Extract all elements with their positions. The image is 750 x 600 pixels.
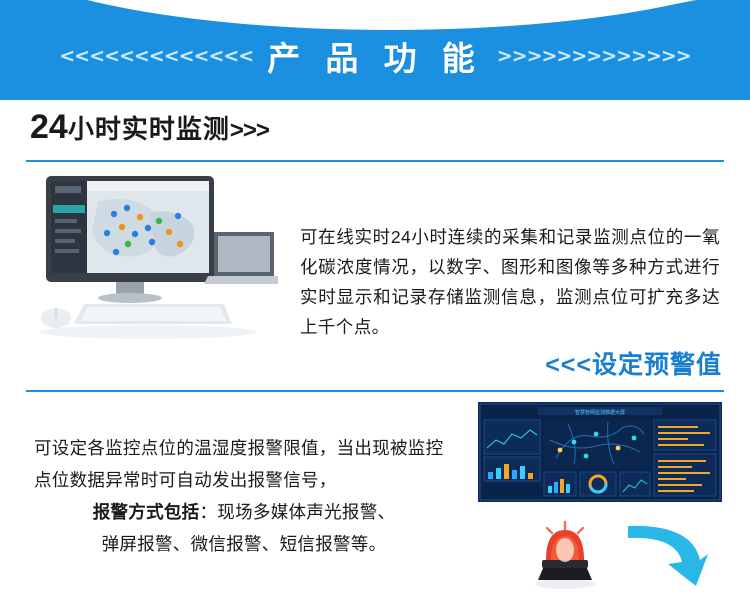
banner-right-chevrons: >>>>>>>>>>>>> [497, 45, 691, 67]
svg-text:智慧管网监测数据大屏: 智慧管网监测数据大屏 [575, 409, 625, 416]
banner-left-chevrons: <<<<<<<<<<<<< [59, 45, 253, 67]
data-visualization-dashboard: 智慧管网监测数据大屏 [478, 402, 722, 502]
section1-heading-arrows: >>> [230, 117, 269, 144]
section2-paragraph: 可设定各监控点位的温湿度报警限值，当出现被监控点位数据异常时可自动发出报警信号，… [34, 432, 454, 560]
set-alarm-callout: <<<设定预警值 [545, 345, 722, 381]
header-banner: <<<<<<<<<<<<< 产 品 功 能 >>>>>>>>>>>>> [0, 0, 750, 100]
section2-line3: 报警方式包括：现场多媒体声光报警、 [34, 496, 454, 528]
curved-arrow-icon [620, 520, 716, 594]
banner-content: <<<<<<<<<<<<< 产 品 功 能 >>>>>>>>>>>>> [0, 26, 750, 86]
section2-line1: 可设定各监控点位的温湿度报警限值，当出现 [34, 438, 390, 458]
page-title: 产 品 功 能 [267, 32, 483, 80]
section1-heading-number: 24 [30, 108, 68, 146]
section2-line3-bold: 报警方式包括 [93, 502, 200, 522]
poster-page: <<<<<<<<<<<<< 产 品 功 能 >>>>>>>>>>>>> 24小时… [0, 0, 750, 600]
desktop-monitor-map-screenshot [28, 172, 278, 352]
alarm-siren-light [520, 508, 610, 590]
divider-line-1 [26, 160, 724, 162]
section1-heading: 24小时实时监测>>> [30, 108, 269, 147]
section2-line3-rest: ：现场多媒体声光报警、 [200, 502, 396, 522]
section1-heading-text: 小时实时监测 [68, 114, 230, 144]
section2-line4: 弹屏报警、微信报警、短信报警等。 [34, 528, 454, 560]
divider-line-2 [26, 390, 724, 392]
section1-paragraph: 可在线实时24小时连续的采集和记录监测点位的一氧化碳浓度情况，以数字、图形和图像… [300, 222, 720, 342]
